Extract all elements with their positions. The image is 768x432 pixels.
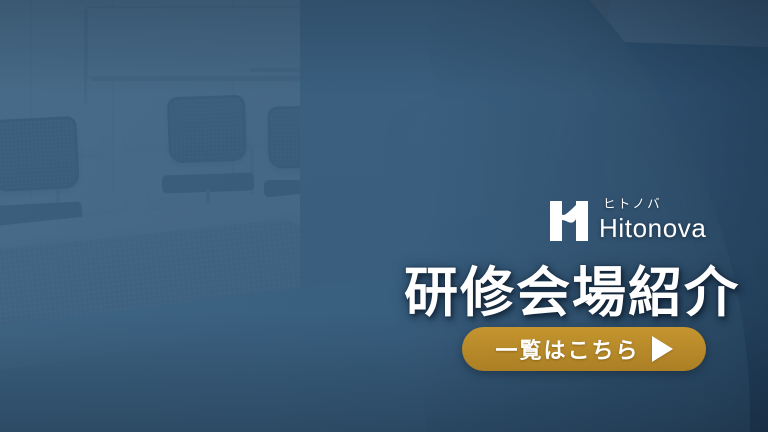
view-list-button[interactable]: 一覧はこちら [462,327,706,371]
logo-wordmark-group: ヒトノバ Hitonova [599,198,706,241]
play-triangle-right-icon [652,336,673,362]
hitonova-h-wave-logo-icon [550,201,588,241]
brand-logo: ヒトノバ Hitonova [550,198,706,241]
promo-banner: ヒトノバ Hitonova 研修会場紹介 一覧はこちら [0,0,768,432]
banner-content: ヒトノバ Hitonova 研修会場紹介 一覧はこちら [372,0,768,432]
headline-title: 研修会場紹介 [376,248,768,327]
brand-wordmark: Hitonova [599,215,706,241]
cta-label: 一覧はこちら [495,333,639,365]
brand-kana: ヒトノバ [603,198,706,211]
